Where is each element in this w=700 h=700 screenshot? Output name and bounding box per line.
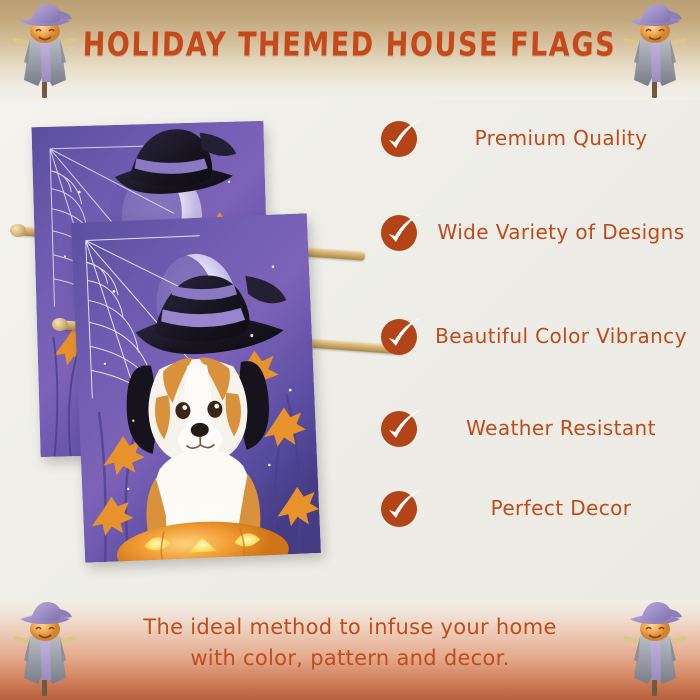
feature-item: Premium Quality	[372, 96, 692, 180]
tagline-line-2: with color, pattern and decor.	[70, 643, 630, 674]
feature-item: Wide Variety of Designs	[372, 180, 692, 284]
check-circle-icon	[378, 405, 424, 451]
product-infographic-poster: HOLIDAY THEMED HOUSE FLAGS	[0, 0, 700, 700]
feature-item: Weather Resistant	[372, 388, 692, 468]
halloween-witch-hat-puppy-house-flag-front	[71, 213, 321, 563]
feature-label: Premium Quality	[434, 125, 692, 152]
check-circle-icon	[378, 115, 424, 161]
tagline-line-1: The ideal method to infuse your home	[143, 615, 556, 639]
feature-list: Premium Quality Wide Variety of Designs …	[372, 96, 692, 548]
check-circle-icon	[378, 209, 424, 255]
page-title: HOLIDAY THEMED HOUSE FLAGS	[0, 26, 700, 64]
product-image-group	[0, 100, 370, 580]
tagline: The ideal method to infuse your home wit…	[70, 612, 630, 674]
check-circle-icon	[378, 485, 424, 531]
feature-item: Beautiful Color Vibrancy	[372, 284, 692, 388]
feature-label: Wide Variety of Designs	[434, 219, 692, 246]
check-circle-icon	[378, 313, 424, 359]
feature-label: Perfect Decor	[434, 495, 692, 522]
feature-item: Perfect Decor	[372, 468, 692, 548]
feature-label: Weather Resistant	[434, 415, 692, 442]
pumpkin-scarecrow-icon	[616, 2, 694, 100]
pumpkin-scarecrow-icon	[6, 2, 84, 100]
feature-label: Beautiful Color Vibrancy	[434, 323, 692, 350]
